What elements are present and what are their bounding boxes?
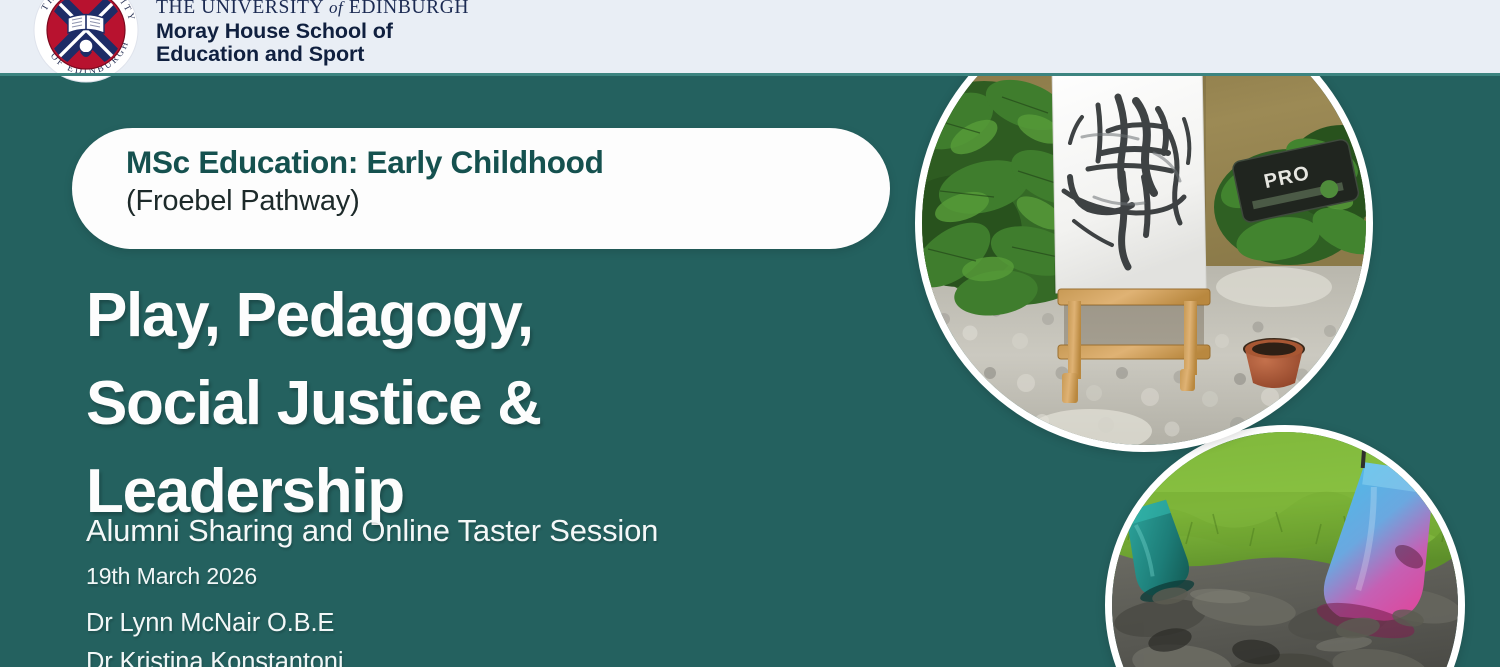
programme-title: MSc Education: Early Childhood — [126, 143, 860, 182]
university-name: THE UNIVERSITY of EDINBURGH — [156, 0, 469, 18]
event-date: 19th March 2026 — [86, 563, 257, 590]
hero-text-column: MSc Education: Early Childhood (Froebel … — [0, 76, 930, 667]
university-name-part-2: EDINBURGH — [349, 0, 469, 18]
presenter-name-1: Dr Lynn McNair O.B.E — [86, 604, 343, 643]
university-name-part-of: of — [329, 0, 343, 17]
school-name-line-1: Moray House School of — [156, 20, 469, 42]
brand-text-block: THE UNIVERSITY of EDINBURGH Moray House … — [156, 0, 469, 65]
wellington-boots-mud-photo — [1105, 425, 1465, 667]
event-headline: Play, Pedagogy, Social Justice & Leaders… — [86, 272, 886, 536]
programme-title-pill-inner: MSc Education: Early Childhood (Froebel … — [126, 143, 860, 220]
presenter-list: Dr Lynn McNair O.B.E Dr Kristina Konstan… — [86, 604, 343, 667]
promotional-banner: THE UNIVERSITY OF EDINBURGH — [0, 0, 1500, 667]
presenter-name-2: Dr Kristina Konstantoni — [86, 643, 343, 667]
headline-line-2: Social Justice & — [86, 360, 886, 448]
header-band: THE UNIVERSITY OF EDINBURGH — [0, 0, 1500, 76]
programme-title-pill: MSc Education: Early Childhood (Froebel … — [72, 128, 890, 249]
wellington-boots-mud-photo-inner — [1112, 432, 1458, 667]
university-crest-icon: THE UNIVERSITY OF EDINBURGH — [30, 0, 142, 86]
school-name-line-2: Education and Sport — [156, 43, 469, 65]
event-subheading: Alumni Sharing and Online Taster Session — [86, 513, 658, 549]
university-name-part-1: THE UNIVERSITY — [156, 0, 323, 18]
programme-pathway: (Froebel Pathway) — [126, 184, 860, 220]
headline-line-1: Play, Pedagogy, — [86, 272, 886, 360]
university-brand-lockup: THE UNIVERSITY OF EDINBURGH — [30, 0, 469, 86]
